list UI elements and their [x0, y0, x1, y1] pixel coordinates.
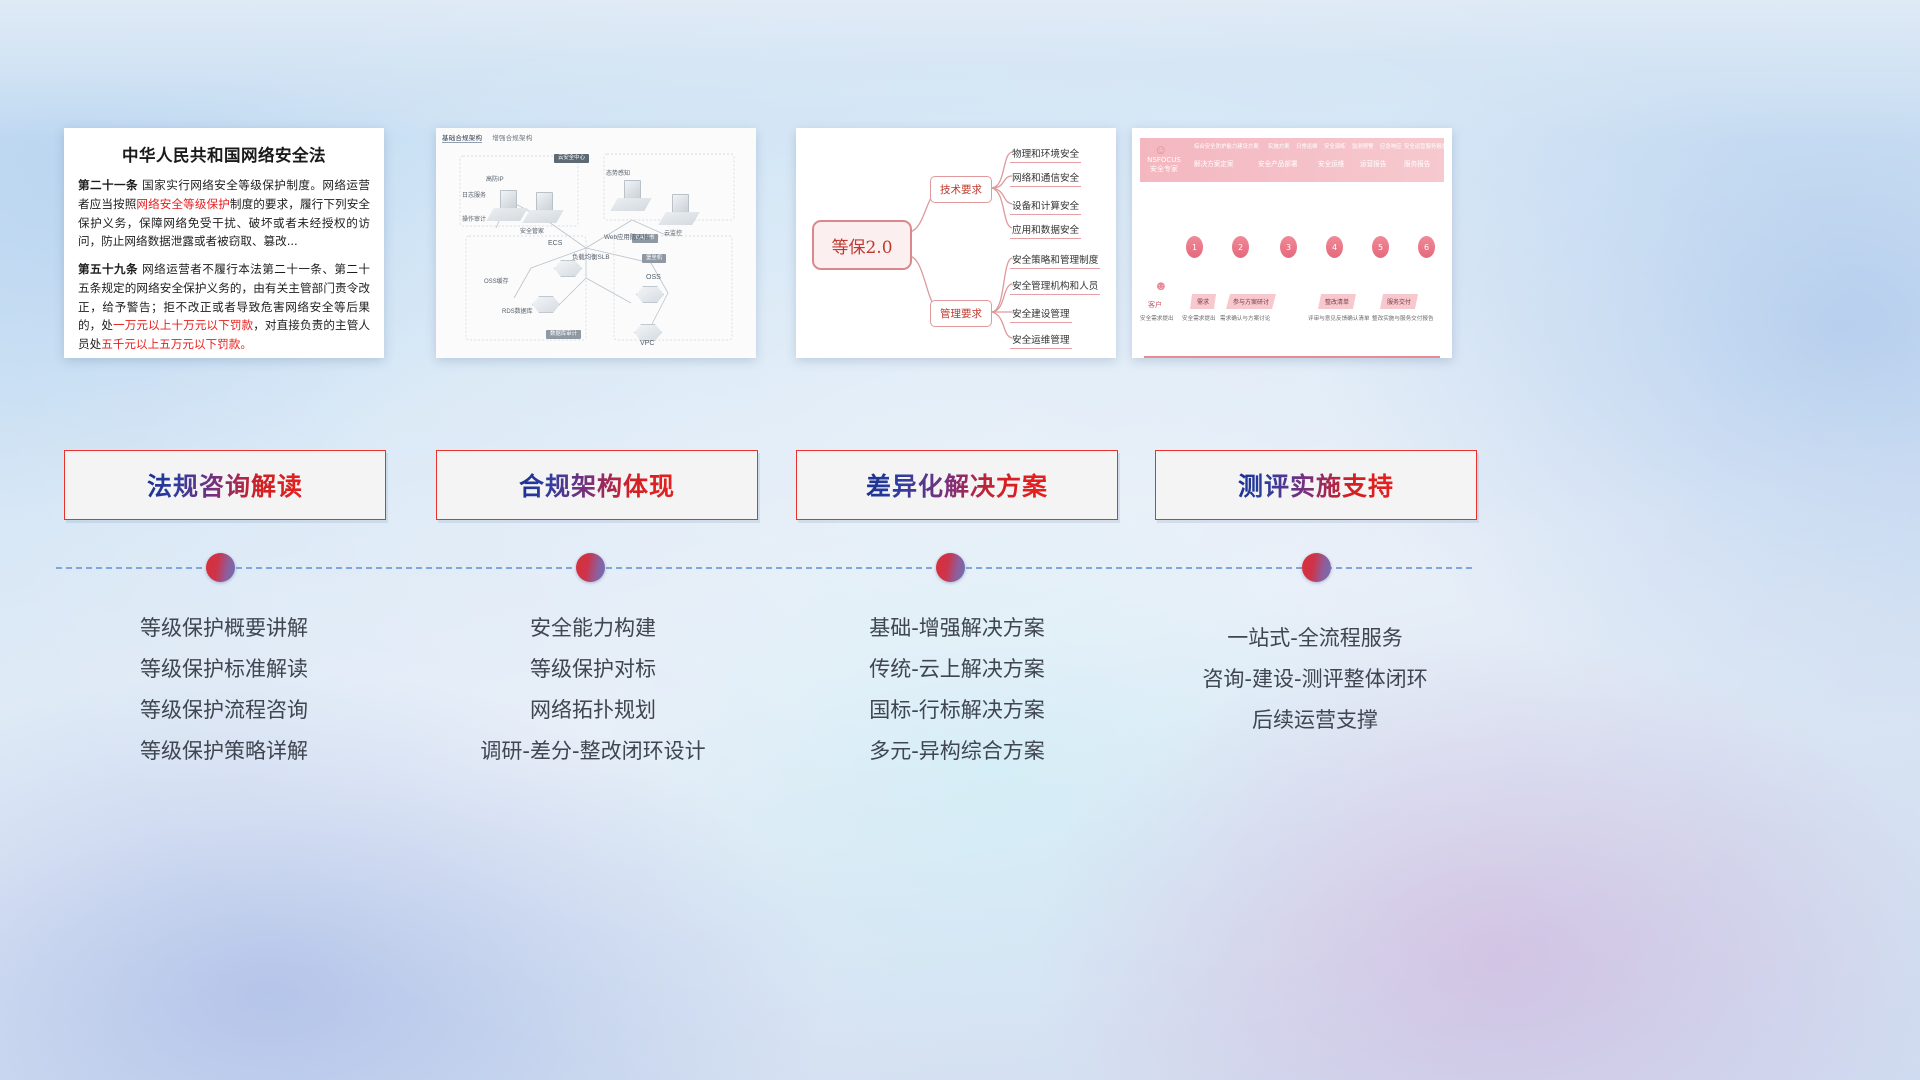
nsfocus-top-label-3: 安全演练 [1324, 142, 1346, 150]
node-label-cloud-monitor: 云监控 [664, 228, 682, 237]
card-nsfocus-service-timeline[interactable]: ☺ NSFOCUS 安全专家 综合安全防护能力建设方案 实施方案 日常运维 安全… [1132, 128, 1452, 358]
timeline-dot-3[interactable] [936, 553, 965, 582]
pillar-title-box-3[interactable]: 差异化解决方案 [796, 450, 1118, 520]
list-item: 网络拓扑规划 [428, 690, 758, 731]
nsfocus-phase-0: 解决方案定案 [1194, 158, 1234, 168]
node-label-log-service: 日志服务 [462, 190, 486, 199]
nsfocus-deliverable-caption-1: 需求确认与方案讨论 [1220, 314, 1270, 322]
nsfocus-logo-line2: 安全专家 [1142, 165, 1186, 174]
nsfocus-phase-2: 安全运维 [1318, 158, 1344, 168]
node-label-web-application-firewall: Web应用防火墙 [604, 232, 649, 241]
node-bastion-host: 堡垒机 [642, 254, 666, 263]
mindmap-leaf-device-computing-security: 设备和计算安全 [1010, 198, 1081, 215]
timeline-dashed-line [56, 567, 1472, 569]
nsfocus-step-1: 1 [1186, 236, 1203, 258]
mindmap-leaf-application-data-security: 应用和数据安全 [1010, 222, 1081, 239]
list-item: 传统-云上解决方案 [792, 649, 1122, 690]
mindmap-leaf-security-org-personnel: 安全管理机构和人员 [1010, 278, 1100, 295]
pillar-title-2: 合规架构体现 [519, 467, 675, 503]
pillar-title-box-4[interactable]: 测评实施支持 [1155, 450, 1477, 520]
pillar-list-4: 一站式-全流程服务 咨询-建设-测评整体闭环 后续运营支撑 [1150, 618, 1480, 741]
mindmap-leaf-security-ops-mgmt: 安全运维管理 [1010, 332, 1072, 349]
list-item: 基础-增强解决方案 [792, 608, 1122, 649]
node-icon-cloud-monitor [672, 194, 689, 213]
list-item: 等级保护流程咨询 [59, 690, 389, 731]
nsfocus-customer-note: 安全需求提出 [1140, 314, 1174, 322]
mindmap-branch-technical: 技术要求 [930, 176, 992, 203]
node-label-slb: 负载均衡SLB [572, 252, 610, 261]
expert-avatar-icon: ☺ [1154, 142, 1167, 157]
node-cloud-security-center: 云安全中心 [554, 154, 589, 163]
mindmap-leaf-security-construction-mgmt: 安全建设管理 [1010, 306, 1072, 323]
nsfocus-top-label-2: 日常运维 [1296, 142, 1318, 150]
nsfocus-phase-4: 服务报告 [1404, 158, 1430, 168]
node-label-oss-cache: OSS缓存 [484, 276, 509, 285]
nsfocus-top-label-1: 实施方案 [1268, 142, 1290, 150]
node-label-vpc: VPC [640, 340, 654, 347]
nsfocus-step-4: 4 [1326, 236, 1343, 258]
mindmap-leaf-network-communication-security: 网络和通信安全 [1010, 170, 1081, 187]
nsfocus-top-label-5: 应急响应 [1380, 142, 1402, 150]
nsfocus-logo: NSFOCUS 安全专家 [1142, 156, 1186, 174]
node-database-audit: 数据库审计 [546, 330, 581, 339]
node-label-ecs: ECS [548, 240, 562, 247]
node-label-rds: RDS数据库 [502, 306, 533, 315]
node-label-oss: OSS [646, 274, 661, 281]
nsfocus-phase-1: 安全产品部署 [1258, 158, 1298, 168]
list-item: 一站式-全流程服务 [1150, 618, 1480, 659]
list-item: 调研-差分-整改闭环设计 [428, 731, 758, 772]
nsfocus-top-label-6: 安全运营服务报告 [1404, 142, 1447, 150]
list-item: 等级保护标准解读 [59, 649, 389, 690]
nsfocus-top-label-0: 综合安全防护能力建设方案 [1194, 142, 1259, 150]
nsfocus-deliverable-3: 服务交付 [1380, 294, 1418, 309]
nsfocus-customer-role: 客户 [1148, 300, 1162, 310]
card-compliance-architecture[interactable]: 基础合规架构增强合规架构 云 [436, 128, 756, 358]
list-item: 多元-异构综合方案 [792, 731, 1122, 772]
timeline-dot-4[interactable] [1302, 553, 1331, 582]
list-item: 安全能力构建 [428, 608, 758, 649]
node-label-operation-audit: 操作审计 [462, 214, 486, 223]
law-article-21-highlight: 网络安全等级保护 [136, 197, 229, 211]
node-label-situation-awareness: 态势感知 [606, 168, 630, 177]
card-cybersecurity-law[interactable]: 中华人民共和国网络安全法 第二十一条 国家实行网络安全等级保护制度。网络运营者应… [64, 128, 384, 358]
pillar-title-1: 法规咨询解读 [147, 467, 303, 503]
customer-avatar-icon: ☻ [1154, 278, 1168, 293]
law-article-59-highlight-2: 五千元以上五万元以下罚款。 [101, 337, 252, 351]
nsfocus-diagram: ☺ NSFOCUS 安全专家 综合安全防护能力建设方案 实施方案 日常运维 安全… [1132, 128, 1452, 358]
list-item: 后续运营支撑 [1150, 700, 1480, 741]
card-dengbao-mindmap[interactable]: 等保2.0 技术要求 管理要求 物理和环境安全 网络和通信安全 设备和计算安全 … [796, 128, 1116, 358]
mindmap-leaf-security-policy-system: 安全策略和管理制度 [1010, 252, 1100, 269]
nsfocus-step-5: 5 [1372, 236, 1389, 258]
node-icon-gaofang-ip [500, 190, 517, 209]
nsfocus-deliverable-0: 需求 [1190, 294, 1216, 309]
list-item: 等级保护对标 [428, 649, 758, 690]
law-article-59-label: 第五十九条 [78, 262, 138, 276]
nsfocus-step-2: 2 [1232, 236, 1249, 258]
list-item: 等级保护概要讲解 [59, 608, 389, 649]
timeline-dot-1[interactable] [206, 553, 235, 582]
law-article-21-label: 第二十一条 [78, 178, 138, 192]
law-title: 中华人民共和国网络安全法 [78, 142, 370, 166]
pillar-list-3: 基础-增强解决方案 传统-云上解决方案 国标-行标解决方案 多元-异构综合方案 [792, 608, 1122, 772]
mindmap: 等保2.0 技术要求 管理要求 物理和环境安全 网络和通信安全 设备和计算安全 … [796, 128, 1116, 358]
timeline-dot-2[interactable] [576, 553, 605, 582]
pillar-list-2: 安全能力构建 等级保护对标 网络拓扑规划 调研-差分-整改闭环设计 [428, 608, 758, 772]
law-article-59-highlight-1: 一万元以上十万元以下罚款 [113, 318, 253, 332]
nsfocus-step-6: 6 [1418, 236, 1435, 258]
mindmap-root-node: 等保2.0 [812, 220, 912, 270]
mindmap-leaf-physical-environment-security: 物理和环境安全 [1010, 146, 1081, 163]
pillar-title-3: 差异化解决方案 [866, 467, 1048, 503]
nsfocus-deliverable-1: 参与方案研讨 [1226, 294, 1276, 309]
pillar-list-1: 等级保护概要讲解 等级保护标准解读 等级保护流程咨询 等级保护策略详解 [59, 608, 389, 772]
node-label-security-manager: 安全管家 [520, 226, 544, 235]
nsfocus-timeline-axis [1144, 356, 1440, 358]
nsfocus-phase-3: 运营报告 [1360, 158, 1386, 168]
nsfocus-deliverable-2: 整改清单 [1318, 294, 1356, 309]
nsfocus-deliverable-caption-2: 评审与意见反馈确认清单 [1308, 314, 1370, 322]
mindmap-branch-management: 管理要求 [930, 300, 992, 327]
list-item: 咨询-建设-测评整体闭环 [1150, 659, 1480, 700]
list-item: 国标-行标解决方案 [792, 690, 1122, 731]
list-item: 等级保护策略详解 [59, 731, 389, 772]
architecture-connectors [436, 128, 756, 358]
node-label-gaofang-ip: 高防IP [486, 174, 504, 183]
pillar-title-box-1[interactable]: 法规咨询解读 [64, 450, 386, 520]
node-icon-security-manager [536, 192, 553, 211]
pillar-title-4: 测评实施支持 [1238, 467, 1394, 503]
node-icon-situation-awareness [624, 180, 641, 199]
nsfocus-deliverable-caption-0: 安全需求提出 [1182, 314, 1216, 322]
pillar-title-box-2[interactable]: 合规架构体现 [436, 450, 758, 520]
nsfocus-logo-line1: NSFOCUS [1142, 156, 1186, 165]
law-paragraph-21: 第二十一条 国家实行网络安全等级保护制度。网络运营者应当按照网络安全等级保护制度… [78, 176, 370, 251]
law-paragraph-59: 第五十九条 网络运营者不履行本法第二十一条、第二十五条规定的网络安全保护义务的，… [78, 260, 370, 354]
architecture-diagram: 基础合规架构增强合规架构 云 [436, 128, 756, 358]
nsfocus-top-label-4: 监测预警 [1352, 142, 1374, 150]
nsfocus-step-3: 3 [1280, 236, 1297, 258]
nsfocus-deliverable-caption-3: 整改实施与服务交付报告 [1372, 314, 1434, 322]
